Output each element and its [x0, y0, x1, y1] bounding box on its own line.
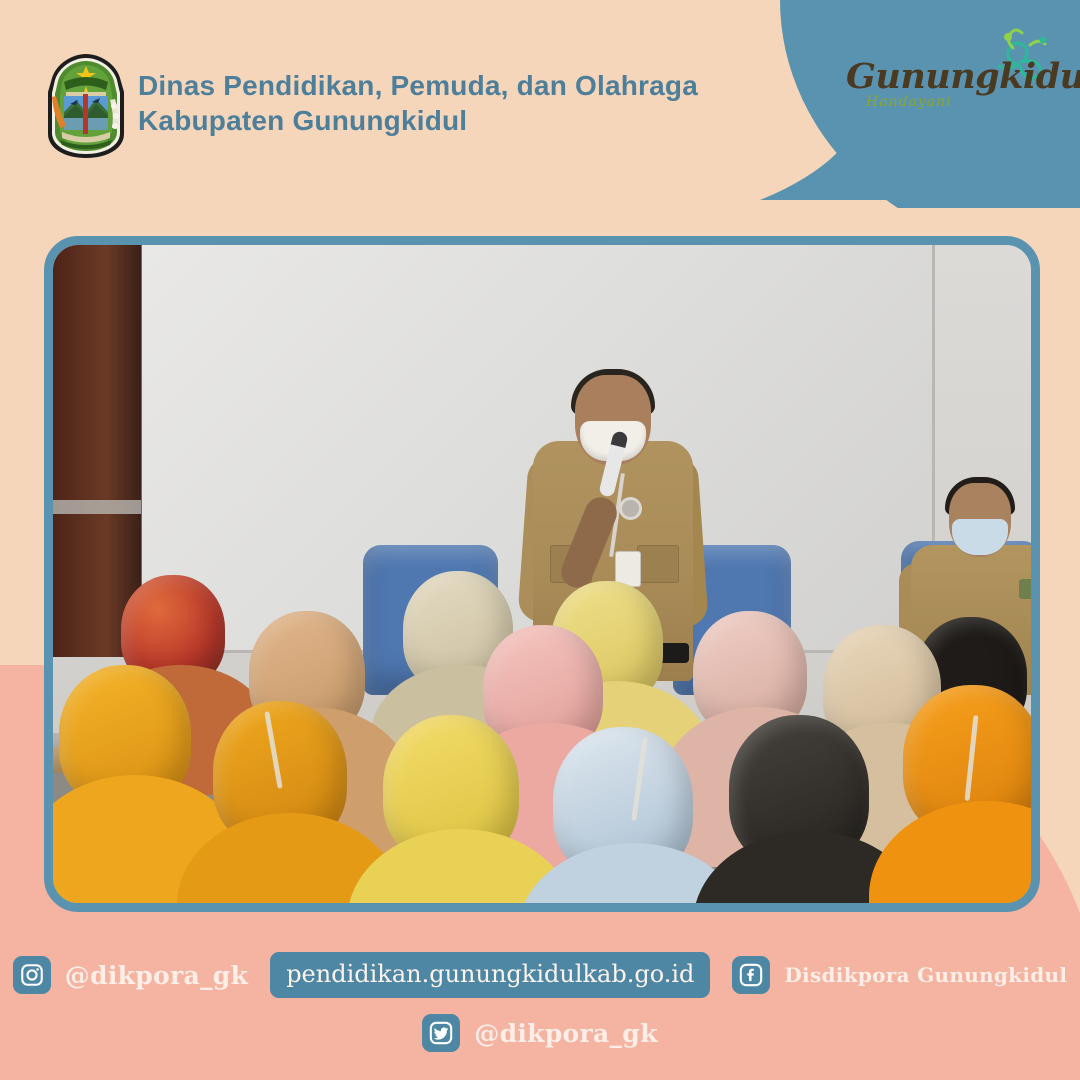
twitter-handle: @dikpora_gk [474, 1019, 657, 1048]
facebook-contact[interactable]: Disdikpora Gunungkidul [732, 956, 1067, 994]
poster-header: Dinas Pendidikan, Pemuda, dan Olahraga K… [0, 0, 1080, 210]
instagram-contact[interactable]: @dikpora_gk [13, 956, 248, 994]
event-photo-card [44, 236, 1040, 912]
footer-row-primary: @dikpora_gk pendidikan.gunungkidulkab.go… [0, 952, 1080, 998]
facebook-page-name: Disdikpora Gunungkidul [784, 963, 1067, 987]
gunungkidul-regency-coat-of-arms-icon [40, 52, 132, 160]
speaker-shirt-pocket [637, 545, 679, 583]
title-line-1: Dinas Pendidikan, Pemuda, dan Olahraga [138, 68, 778, 103]
instagram-handle: @dikpora_gk [65, 961, 248, 990]
brand-wordmark: Gunungkidul [846, 56, 1080, 97]
speaker-badge-clip [619, 497, 642, 520]
twitter-contact[interactable]: @dikpora_gk [422, 1014, 657, 1052]
instagram-icon[interactable] [13, 956, 51, 994]
door-frame-rail [53, 500, 141, 514]
page-title: Dinas Pendidikan, Pemuda, dan Olahraga K… [138, 68, 778, 138]
twitter-icon[interactable] [422, 1014, 460, 1052]
gunungkidul-brand-logo: Gunungkidul Handayani [838, 28, 1058, 120]
poster-canvas: Dinas Pendidikan, Pemuda, dan Olahraga K… [0, 0, 1080, 1080]
title-line-2: Kabupaten Gunungkidul [138, 103, 778, 138]
event-photo [53, 245, 1031, 903]
website-url-button[interactable]: pendidikan.gunungkidulkab.go.id [270, 952, 710, 998]
footer-row-secondary: @dikpora_gk [0, 1014, 1080, 1052]
seated-official-emblem [1019, 579, 1031, 599]
poster-footer: @dikpora_gk pendidikan.gunungkidulkab.go… [0, 930, 1080, 1080]
brand-tagline: Handayani [866, 94, 952, 110]
door-frame [53, 245, 141, 657]
facebook-icon[interactable] [732, 956, 770, 994]
